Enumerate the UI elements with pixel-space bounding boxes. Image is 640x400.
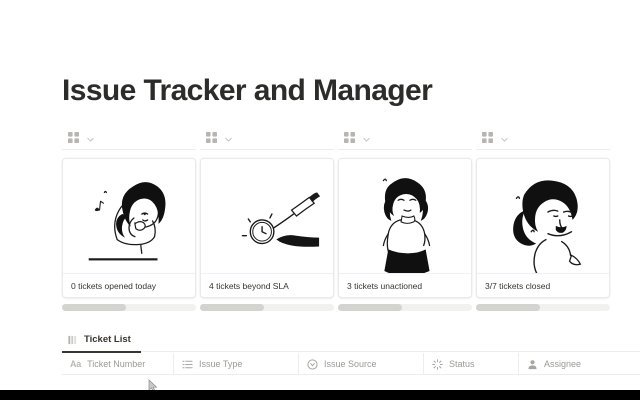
horizontal-scrollbar[interactable]: [62, 304, 196, 311]
column-header-label: Assignee: [544, 359, 581, 369]
gallery-column-header[interactable]: [62, 124, 200, 146]
view-tab-bar: Ticket List: [62, 328, 640, 352]
tab-label: Ticket List: [84, 334, 131, 345]
page-title: Issue Tracker and Manager: [62, 74, 432, 109]
table-header-row: Aa Ticket Number Issue Type Issue Source…: [62, 353, 640, 375]
gallery-card[interactable]: 0 tickets opened today: [62, 158, 196, 298]
gallery-card[interactable]: 3/7 tickets closed: [476, 158, 610, 298]
woman-portrait-illustration: [477, 159, 609, 273]
app-page: Issue Tracker and Manager: [0, 0, 640, 400]
card-caption: 4 tickets beyond SLA: [201, 273, 333, 297]
scrollbar-thumb[interactable]: [476, 304, 540, 311]
column-header-assignee[interactable]: Assignee: [519, 353, 640, 375]
scrollbar-thumb[interactable]: [338, 304, 402, 311]
person-icon: [527, 359, 538, 370]
column-header-issue-source[interactable]: Issue Source: [299, 353, 424, 375]
column-header-issue-type[interactable]: Issue Type: [174, 353, 299, 375]
gallery-card[interactable]: 4 tickets beyond SLA: [200, 158, 334, 298]
grid-2x2-icon[interactable]: [206, 130, 217, 141]
gallery-card[interactable]: 3 tickets unactioned: [338, 158, 472, 298]
gallery-column: 0 tickets opened today: [62, 124, 200, 324]
column-header-label: Status: [449, 359, 475, 369]
horizontal-scrollbar[interactable]: [338, 304, 472, 311]
column-header-label: Issue Type: [199, 359, 242, 369]
card-caption: 3 tickets unactioned: [339, 273, 471, 297]
gallery-column-header[interactable]: [200, 124, 338, 146]
horizontal-scrollbar[interactable]: [476, 304, 610, 311]
gallery-column: 3 tickets unactioned: [338, 124, 476, 324]
tab-ticket-list[interactable]: Ticket List: [62, 328, 141, 352]
grid-2x2-icon[interactable]: [68, 130, 79, 141]
text-aa-icon: Aa: [70, 359, 81, 369]
gallery-column: 4 tickets beyond SLA: [200, 124, 338, 324]
column-header-status[interactable]: Status: [424, 353, 519, 375]
card-caption: 3/7 tickets closed: [477, 273, 609, 297]
list-icon: [182, 359, 193, 370]
column-divider: [200, 149, 334, 150]
column-header-label: Issue Source: [324, 359, 377, 369]
gallery-column: 3/7 tickets closed: [476, 124, 614, 324]
column-divider: [476, 149, 610, 150]
scrollbar-thumb[interactable]: [62, 304, 126, 311]
column-divider: [62, 149, 196, 150]
column-header-ticket-number[interactable]: Aa Ticket Number: [62, 353, 174, 375]
standing-woman-illustration: [339, 159, 471, 273]
table-columns-icon: [68, 335, 78, 345]
grid-2x2-icon[interactable]: [344, 130, 355, 141]
select-circle-icon: [307, 359, 318, 370]
gallery-column-header[interactable]: [476, 124, 614, 146]
woman-drinking-coffee-illustration: [63, 159, 195, 273]
bottom-letterbox: [0, 390, 640, 400]
chevron-down-icon[interactable]: [500, 131, 509, 140]
status-sunburst-icon: [432, 359, 443, 370]
chevron-down-icon[interactable]: [224, 131, 233, 140]
card-caption: 0 tickets opened today: [63, 273, 195, 297]
gallery-columns: 0 tickets opened today: [62, 124, 640, 324]
chevron-down-icon[interactable]: [86, 131, 95, 140]
chevron-down-icon[interactable]: [362, 131, 371, 140]
stopwatch-in-hand-illustration: [201, 159, 333, 273]
grid-2x2-icon[interactable]: [482, 130, 493, 141]
column-divider: [338, 149, 472, 150]
horizontal-scrollbar[interactable]: [200, 304, 334, 311]
scrollbar-thumb[interactable]: [200, 304, 264, 311]
gallery-column-header[interactable]: [338, 124, 476, 146]
column-header-label: Ticket Number: [87, 359, 145, 369]
